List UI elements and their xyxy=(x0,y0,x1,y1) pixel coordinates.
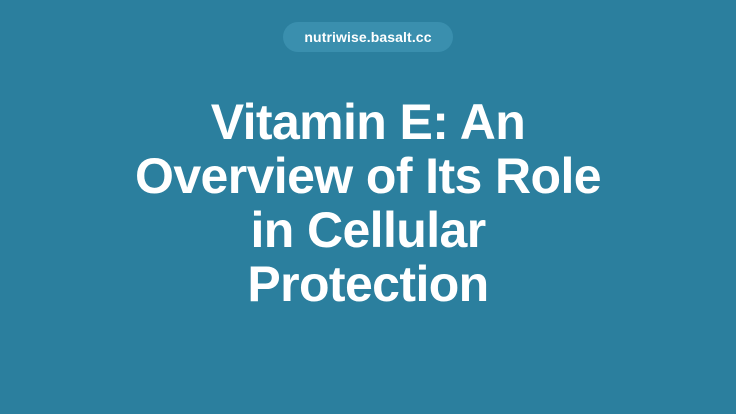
article-title-card: nutriwise.basalt.cc Vitamin E: An Overvi… xyxy=(0,0,736,414)
page-title: Vitamin E: An Overview of Its Role in Ce… xyxy=(88,95,648,311)
site-domain-badge[interactable]: nutriwise.basalt.cc xyxy=(283,22,453,52)
badge-row: nutriwise.basalt.cc xyxy=(0,22,736,52)
page-title-line-1: Vitamin E: An xyxy=(88,95,648,149)
headline-wrap: Vitamin E: An Overview of Its Role in Ce… xyxy=(88,95,648,311)
page-title-line-3: in Cellular xyxy=(88,203,648,257)
page-title-line-4: Protection xyxy=(88,257,648,311)
page-title-line-2: Overview of Its Role xyxy=(88,149,648,203)
